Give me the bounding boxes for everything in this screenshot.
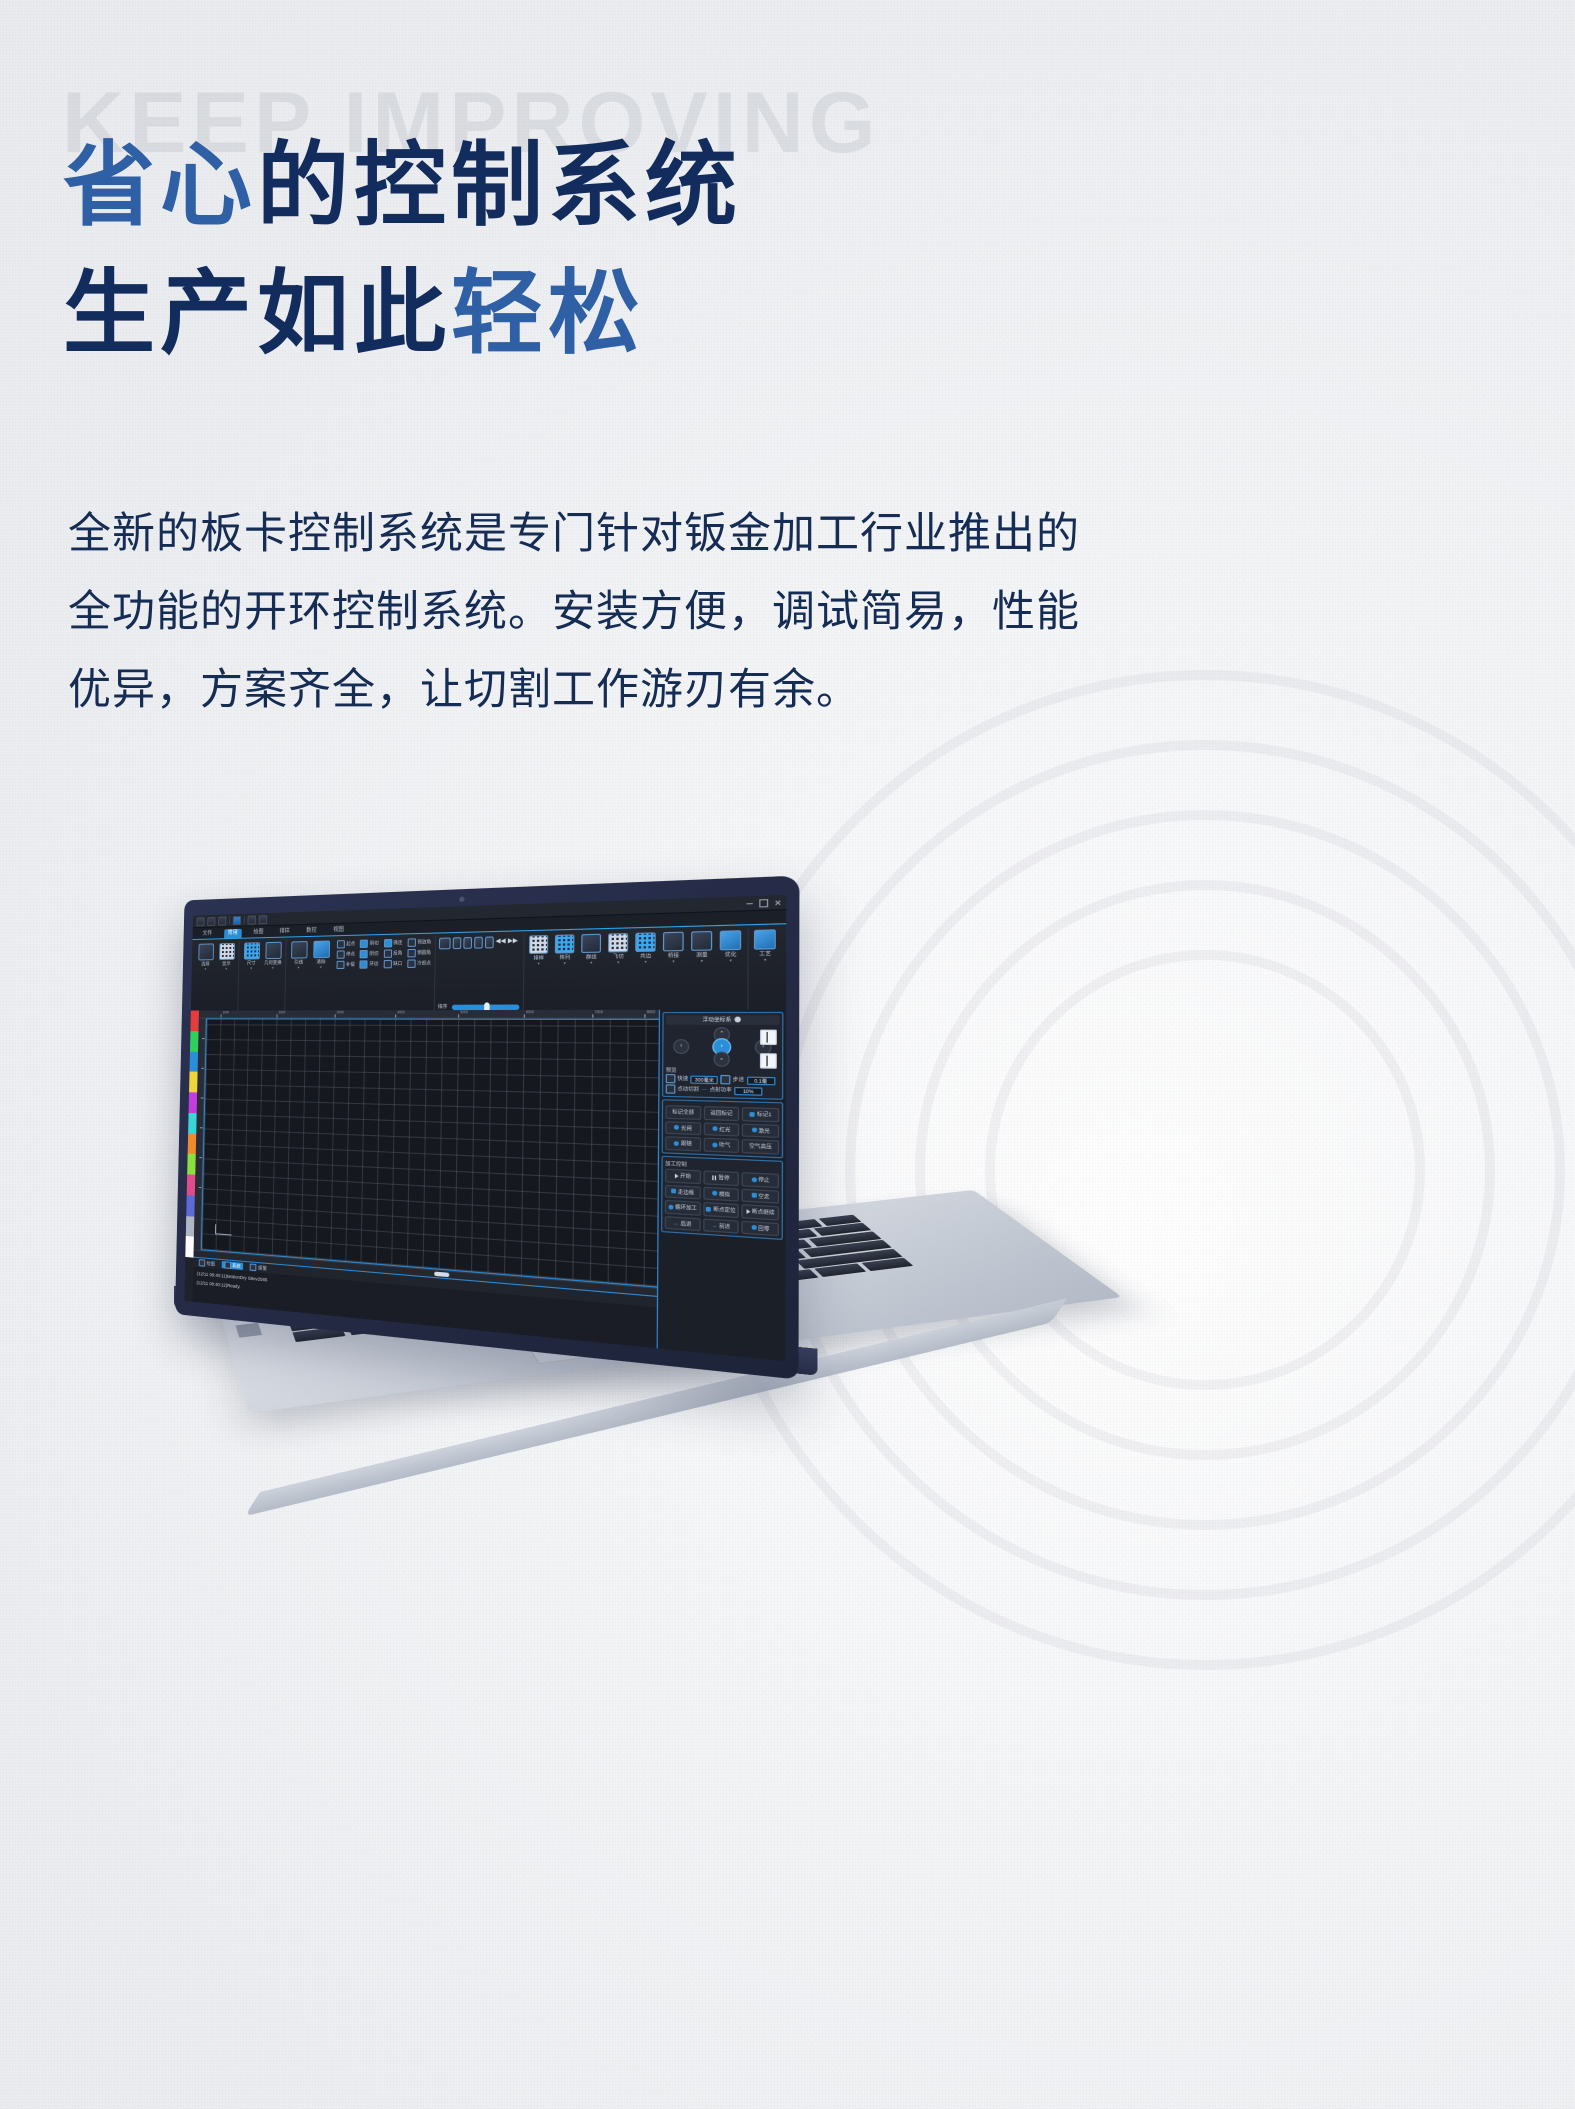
mark1-button[interactable]: 标记1 — [742, 1107, 779, 1122]
stop-point-icon — [337, 950, 345, 958]
preset-angle-icon — [407, 938, 415, 947]
dimension-icon — [243, 942, 259, 959]
sort-3-icon[interactable] — [474, 937, 483, 949]
headline-dark-2: 生产如此 — [63, 263, 451, 365]
chevron-down-icon[interactable]: ▾ — [672, 960, 674, 964]
page-buttons — [760, 1029, 777, 1068]
left-arrow-icon: ← — [673, 1220, 678, 1227]
ribbon-label: 清除 — [316, 959, 325, 965]
ribbon-label: 群组 — [586, 954, 597, 961]
loop-icon — [668, 1205, 673, 1210]
go-home-button[interactable]: 回零 — [742, 1220, 779, 1236]
cmd-compensate[interactable]: 补偿 — [337, 961, 355, 970]
play-icon — [674, 1174, 678, 1179]
breakpoint-resume-button[interactable]: 断点继续 — [742, 1204, 779, 1220]
radio-icon[interactable] — [721, 1075, 731, 1085]
ribbon-group-process: 工艺 ▾ — [748, 927, 782, 1014]
laser-toggle[interactable]: 激光 — [742, 1123, 779, 1138]
ribbon-button-geometry-transform[interactable]: 几何变换 ▾ — [263, 942, 282, 971]
ribbon-button-clear[interactable]: 清除 ▾ — [311, 940, 331, 969]
mark-all-button[interactable]: 标记全部 — [665, 1105, 700, 1119]
layers-list-icon — [219, 943, 235, 960]
mark-button-row: 标记全部 返回标记 标记1 — [665, 1105, 779, 1122]
tab-cnc[interactable]: 数控 — [302, 927, 320, 936]
cmd-micro-joint[interactable]: 微连 — [384, 939, 403, 948]
sort-auto-icon[interactable] — [438, 937, 450, 949]
chevron-down-icon[interactable]: ▾ — [204, 968, 206, 972]
cmd-start-point[interactable]: 起点 — [337, 940, 355, 949]
scrollbar-thumb[interactable] — [434, 1272, 449, 1278]
reverse-angle-icon — [383, 949, 391, 958]
target-icon[interactable] — [735, 1017, 741, 1023]
right-control-panel: 浮动坐标系 ⌃ ‹ › › ⌄ — [657, 1009, 787, 1361]
jog-down-button[interactable]: ⌄ — [713, 1051, 729, 1066]
ruler-tick-label: 4000 — [397, 1010, 404, 1014]
ribbon-button-nesting[interactable]: 排样 ▾ — [527, 935, 550, 967]
canvas-row — [194, 1018, 665, 1288]
cmd-cooling-point[interactable]: 冷却点 — [407, 959, 431, 968]
red-light-icon — [712, 1127, 717, 1132]
start-point-icon — [337, 940, 345, 948]
draw-icon — [199, 1259, 206, 1267]
ribbon-button-flycut[interactable]: 飞切 ▾ — [606, 933, 630, 965]
ruler-tick-label: 1000 — [222, 1010, 229, 1014]
shutter-icon — [674, 1125, 679, 1130]
ring-cut-icon — [360, 960, 368, 968]
ribbon-label: 尺寸 — [247, 960, 256, 966]
pause-button[interactable]: 暂停 — [703, 1171, 739, 1186]
ribbon-group-nest: 排样 ▾ 阵列 ▾ 群组 ▾ — [524, 928, 749, 1015]
origin-marker-icon — [215, 1224, 232, 1235]
ribbon-label: 阵列 — [560, 954, 571, 961]
ruler-tick-label: 2000 — [278, 1010, 285, 1014]
forward-button[interactable]: →前进 — [703, 1218, 739, 1234]
high-pressure-air-toggle[interactable]: 空气高压 — [742, 1139, 779, 1154]
notch-icon — [383, 960, 391, 969]
ribbon-button-leadline[interactable]: 引线 ▾ — [289, 941, 309, 970]
headline: 省心的控制系统 生产如此轻松 — [63, 122, 742, 378]
common-edge-icon — [636, 932, 657, 952]
ribbon-label: 优化 — [725, 951, 737, 958]
shutter-toggle[interactable]: 光闸 — [665, 1121, 701, 1136]
cooling-point-icon — [407, 959, 415, 968]
toggle-row-1: 光闸 红光 激光 — [665, 1121, 779, 1138]
checkbox-icon[interactable] — [666, 1085, 676, 1094]
ribbon-group-transform: 尺寸 ▾ 几何变换 ▾ — [238, 940, 286, 1015]
ribbon-button-process[interactable]: 工艺 ▾ — [752, 929, 778, 963]
stop-button[interactable]: 停止 — [742, 1172, 779, 1187]
ribbon-button-dimension[interactable]: 尺寸 ▾ — [242, 942, 261, 971]
preview-label: 预览 — [666, 1067, 677, 1074]
tab-file[interactable]: 文件 — [199, 930, 216, 939]
transform-icon — [265, 942, 281, 959]
undo-icon[interactable] — [247, 915, 256, 924]
ribbon-button-measure[interactable]: 测量 ▾ — [689, 931, 714, 964]
cmd-preset-angle[interactable]: 预放角 — [407, 938, 431, 947]
follow-toggle[interactable]: 跟随 — [665, 1136, 701, 1151]
cmd-reverse-angle[interactable]: 反角 — [383, 949, 402, 958]
divider — [244, 916, 245, 924]
chevron-down-icon[interactable]: ▾ — [730, 959, 732, 963]
ribbon-button-select[interactable]: 选择 ▾ — [196, 943, 215, 971]
user-icon[interactable] — [233, 915, 241, 924]
frame-icon — [671, 1189, 676, 1194]
ribbon-button-array[interactable]: 阵列 ▾ — [553, 934, 576, 966]
cmd-stop-point[interactable]: 停点 — [337, 950, 355, 959]
ribbon-label: 引线 — [294, 959, 303, 965]
ribbon-button-common-edge[interactable]: 共边 ▾ — [634, 932, 658, 965]
sort-4-icon[interactable] — [484, 936, 493, 948]
drawing-canvas[interactable] — [201, 1018, 665, 1288]
chevron-down-icon[interactable]: ▾ — [538, 962, 540, 966]
group-icon — [582, 934, 602, 953]
right-arrow-icon: → — [712, 1222, 718, 1229]
flycut-icon — [608, 933, 628, 953]
ruler-tick-label: 7000 — [595, 1010, 603, 1014]
chevron-down-icon[interactable]: ▾ — [320, 966, 322, 970]
simulate-button[interactable]: 模拟 — [703, 1186, 739, 1201]
minimize-icon[interactable] — [746, 902, 752, 903]
lock-icon[interactable] — [218, 916, 226, 925]
return-mark-button[interactable]: 返回标记 — [703, 1106, 739, 1121]
sort-2-icon[interactable] — [463, 937, 472, 949]
next-icon[interactable]: ▶▶ — [508, 938, 518, 946]
ribbon-label: 飞切 — [613, 953, 624, 960]
laptop-lid: 文件 常用 绘图 排样 数控 视图 选择 ▾ — [175, 876, 799, 1380]
coordinate-card: 浮动坐标系 ⌃ ‹ › › ⌄ — [662, 1012, 784, 1100]
ribbon-label: 桥接 — [668, 952, 679, 959]
maximize-icon[interactable] — [759, 898, 768, 906]
ribbon-button-group[interactable]: 群组 ▾ — [580, 934, 604, 966]
blow-toggle[interactable]: 吹气 — [703, 1138, 739, 1153]
back-button[interactable]: ←后退 — [665, 1216, 701, 1232]
ribbon-label: 几何变换 — [264, 960, 282, 966]
dry-run-button[interactable]: 空走 — [742, 1188, 779, 1204]
lede-paragraph: 全新的板卡控制系统是专门针对钣金加工行业推出的全功能的开环控制系统。安装方便，调… — [68, 495, 1113, 729]
jog-cut-value: — — [702, 1087, 708, 1094]
headline-dark-1: 的控制系统 — [257, 135, 742, 237]
lead-in-icon — [291, 941, 308, 959]
loop-process-button[interactable]: 循环加工 — [665, 1200, 701, 1215]
window-controls — [746, 898, 781, 907]
tab-nesting[interactable]: 排样 — [276, 928, 294, 937]
close-icon[interactable] — [775, 899, 782, 905]
mark-swatch-icon — [750, 1112, 755, 1117]
eraser-icon — [313, 941, 330, 959]
headline-accent-1: 省心 — [63, 135, 257, 237]
shade-cut-2-icon — [360, 950, 368, 958]
pause-icon — [713, 1175, 717, 1180]
resume-icon — [746, 1209, 750, 1214]
chevron-down-icon[interactable]: ▾ — [590, 961, 592, 965]
coordinate-card-title: 浮动坐标系 — [666, 1015, 779, 1024]
measure-icon — [691, 931, 712, 951]
nest-icon — [529, 935, 548, 954]
jog-left-button[interactable]: ‹ — [673, 1039, 689, 1054]
ruler-tick-label: 8000 — [647, 1010, 656, 1015]
ribbon-label: 排样 — [534, 955, 544, 961]
cmd-notch[interactable]: 缺口 — [383, 960, 402, 969]
chevron-down-icon[interactable]: ▾ — [225, 968, 227, 972]
frame-button[interactable]: 走边框 — [665, 1184, 701, 1199]
process-layers-icon — [754, 929, 776, 949]
process-control-card: 加工控制 开始 暂停 停止 走边框 模拟 空走 — [661, 1155, 783, 1240]
ruler-tick-label: 6000 — [526, 1010, 534, 1014]
cnc-software-window: 文件 常用 绘图 排样 数控 视图 选择 ▾ — [184, 895, 786, 1361]
jog-speed-input[interactable]: 300毫米 — [691, 1075, 719, 1084]
headline-line-1: 省心的控制系统 — [63, 122, 742, 250]
ruler-tick-label: 3000 — [337, 1010, 344, 1014]
cmd-ring-cut[interactable]: 环切 — [360, 960, 379, 969]
tab-view[interactable]: 视图 — [329, 926, 348, 936]
ribbon-button-optimize[interactable]: 优化 ▾ — [718, 930, 743, 963]
cursor-icon — [198, 943, 214, 960]
fillet-icon — [407, 949, 415, 958]
jog-dpad: ⌃ ‹ › › ⌄ — [666, 1027, 780, 1068]
canvas-area: 1000 2000 3000 4000 5000 6000 7000 8000 — [192, 1010, 664, 1349]
ribbon-small-commands: 起点 阴切 微连 预放角 停点 阴切 反角 倒圆角 补偿 环切 缺口 — [337, 938, 432, 969]
laser-icon — [751, 1128, 756, 1133]
cmd-shade-cut-2[interactable]: 阴切 — [360, 950, 379, 959]
tab-home[interactable]: 常用 — [224, 929, 241, 938]
optimize-icon — [720, 930, 742, 950]
breakpoint-icon — [706, 1207, 711, 1212]
pulse-power-label: 点射功率 — [710, 1087, 732, 1094]
redo-icon[interactable] — [259, 915, 268, 924]
cmd-shade-cut-1[interactable]: 阴切 — [360, 939, 379, 948]
simulate-icon — [712, 1191, 717, 1196]
ribbon-button-display[interactable]: 显示 ▾ — [217, 943, 236, 971]
webcam-icon — [459, 897, 464, 903]
jog-cut-row: 点动切割 — 点射功率 10% — [666, 1085, 780, 1097]
chevron-down-icon[interactable]: ▾ — [250, 967, 252, 971]
alarm-icon — [250, 1263, 257, 1271]
laptop-mockup: 文件 常用 绘图 排样 数控 视图 选择 ▾ — [150, 880, 1140, 1560]
sort-1-icon[interactable] — [452, 937, 461, 949]
radio-icon[interactable] — [666, 1074, 676, 1083]
home-icon — [751, 1225, 756, 1230]
jog-step-input[interactable]: 0.1毫 — [746, 1076, 774, 1085]
chevron-down-icon[interactable]: ▾ — [645, 961, 647, 965]
tab-draw[interactable]: 绘图 — [250, 928, 268, 937]
chevron-down-icon[interactable]: ▾ — [564, 962, 566, 966]
shade-cut-icon — [360, 940, 368, 948]
ribbon-toolbar: 选择 ▾ 显示 ▾ — [191, 924, 786, 1014]
mark-card: 标记全部 返回标记 标记1 光闸 红光 激光 跟随 吹气 空气高压 — [662, 1099, 784, 1158]
ribbon-group-sort: ◀◀ ▶▶ 排序 ▾ — [434, 933, 524, 1014]
page-left-icon[interactable] — [760, 1029, 777, 1044]
ribbon-group-lead: 引线 ▾ 清除 ▾ 起点 阴切 微连 — [285, 936, 435, 1015]
blow-icon — [712, 1143, 717, 1148]
bridge-icon — [663, 932, 684, 952]
save-icon[interactable] — [196, 917, 204, 926]
page-right-icon[interactable] — [760, 1053, 777, 1069]
pulse-power-input[interactable]: 10% — [734, 1086, 762, 1095]
red-light-toggle[interactable]: 红光 — [703, 1122, 739, 1137]
follow-icon — [674, 1141, 679, 1146]
ribbon-label: 测量 — [696, 952, 707, 959]
micro-joint-icon — [384, 939, 392, 948]
ribbon-label: 工艺 — [759, 951, 771, 958]
system-icon — [224, 1261, 231, 1269]
ribbon-button-bridge[interactable]: 桥接 ▾ — [661, 932, 686, 965]
ribbon-label: 共边 — [640, 953, 651, 960]
ribbon-label: 选择 — [201, 961, 209, 967]
stop-icon — [751, 1177, 756, 1182]
start-button[interactable]: 开始 — [665, 1169, 701, 1184]
headline-line-2: 生产如此轻松 — [63, 250, 742, 378]
dry-run-icon — [751, 1193, 756, 1198]
ribbon-label: 显示 — [222, 961, 231, 967]
prev-icon[interactable]: ◀◀ — [495, 938, 505, 946]
breakpoint-locate-button[interactable]: 断点定位 — [703, 1202, 739, 1218]
divider — [229, 916, 230, 924]
array-icon — [555, 934, 575, 953]
chevron-down-icon[interactable]: ▾ — [701, 960, 703, 964]
compensate-icon — [337, 961, 345, 969]
chevron-down-icon[interactable]: ▾ — [298, 966, 300, 970]
laptop-screen: 文件 常用 绘图 排样 数控 视图 选择 ▾ — [184, 895, 786, 1361]
ruler-tick-label: 5000 — [460, 1010, 468, 1014]
toggle-row-2: 跟随 吹气 空气高压 — [665, 1136, 779, 1154]
chevron-down-icon[interactable]: ▾ — [272, 967, 274, 971]
chevron-down-icon[interactable]: ▾ — [617, 961, 619, 965]
cmd-fillet[interactable]: 倒圆角 — [407, 949, 431, 958]
chevron-down-icon[interactable]: ▾ — [764, 959, 766, 963]
headline-accent-2: 轻松 — [451, 263, 645, 365]
ribbon-group-selection: 选择 ▾ 显示 ▾ — [193, 941, 240, 1015]
open-icon[interactable] — [207, 916, 215, 925]
